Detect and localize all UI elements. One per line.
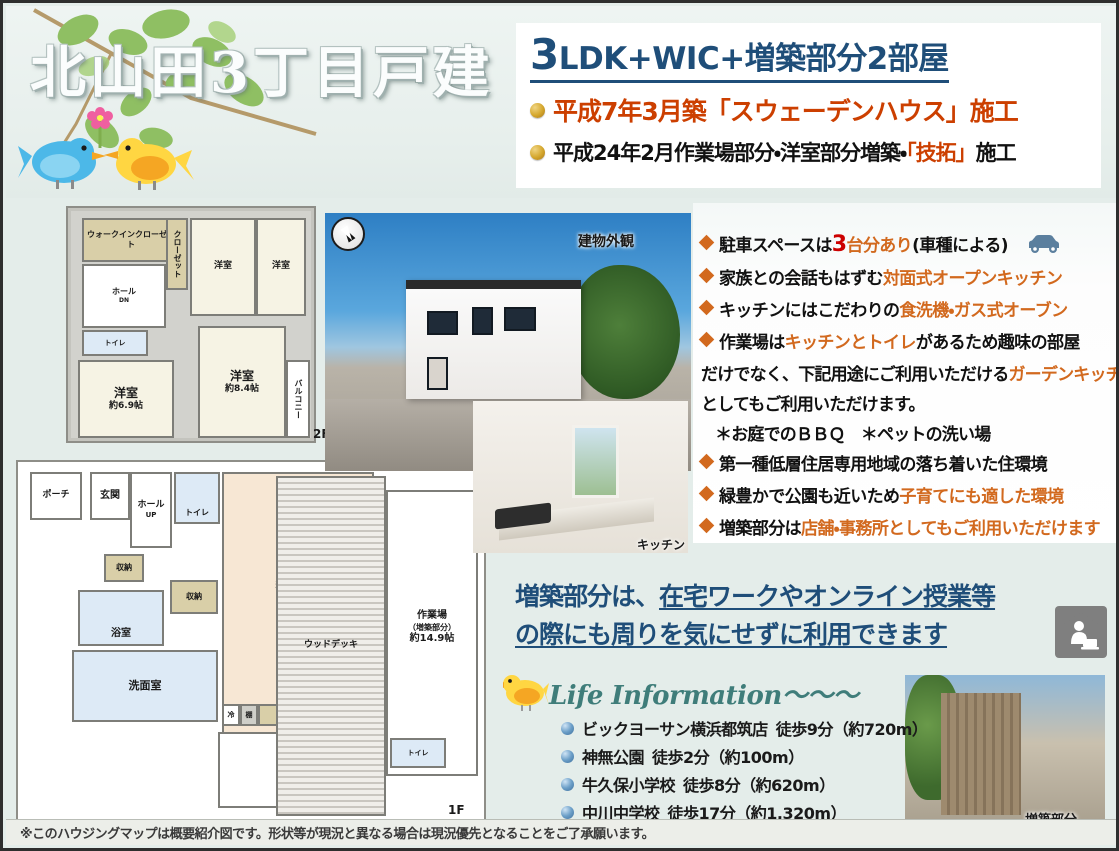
photo-kitchen xyxy=(473,401,688,553)
life-item-walk: 徒歩9分（約720m） xyxy=(776,716,928,740)
life-item-place: 牛久保小学校 xyxy=(582,772,675,796)
disclaimer-bar: ※このハウジングマップは概要紹介図です。形状等が現況と異なる場合は現況優先となる… xyxy=(6,819,1116,845)
room-wood-deck: ウッドデッキ xyxy=(276,476,386,816)
room-size: UP xyxy=(146,511,157,520)
room-label: 収納 xyxy=(186,592,202,602)
feature-row-kitchen-open: 家族との会話もはずむ対面式オープンキッチン xyxy=(701,264,1112,289)
room-storage-1: 収納 xyxy=(104,554,144,582)
room-western-8-4: 洋室 約8.4帖 xyxy=(198,326,286,438)
room-label: 冷 xyxy=(228,711,235,720)
room-workshop-14-9: 作業場 （増築部分） 約14.9帖 xyxy=(386,490,478,776)
gold-bullet-icon xyxy=(530,103,545,118)
photo-caption-exterior: 建物外観 xyxy=(578,231,634,251)
wfh-line-2: の際にも周りを気にせずに利用できます xyxy=(515,616,1035,654)
photo-addition xyxy=(905,675,1105,827)
compass-rose-icon xyxy=(331,217,365,251)
flyer-root: 北山田3丁目戸建 3LDK+WIC+増築部分2部屋 平成7年3月築「スウェーデン… xyxy=(0,0,1119,851)
bird-icon xyxy=(503,671,549,715)
room-toilet-workshop: トイレ xyxy=(390,738,446,768)
floor-tag-1f: 1F xyxy=(448,803,465,817)
feature-text-garden-kitchen: だけでなく、下記用途にご利用いただけるガーデンキッチン xyxy=(701,360,1112,385)
room-bath: 浴室 xyxy=(78,590,164,646)
room-label: バルコニー xyxy=(293,379,303,419)
room-size: 約6.9帖 xyxy=(109,401,143,412)
floorplan-1f: ポーチ 玄関 ホール UP トイレ 収納 収納 浴室 洗面室 LDK 約19.9… xyxy=(16,460,486,828)
room-balcony: バルコニー xyxy=(286,360,310,438)
room-sublabel: （増築部分） xyxy=(408,623,456,633)
room-fridge: 冷 xyxy=(222,704,240,726)
gold-bullet-icon xyxy=(530,145,545,160)
life-item-1: 神無公園 徒歩2分（約100m） xyxy=(561,744,923,768)
spec-box: 3LDK+WIC+増築部分2部屋 平成7年3月築「スウェーデンハウス」施工 平成… xyxy=(516,23,1101,188)
spec-line-2: 平成24年2月作業場部分・洋室部分増築・「技拓」施工 xyxy=(530,137,1089,167)
room-label: ウォークインクローゼット xyxy=(84,230,178,250)
life-information-block: Life Information～～～ ビックヨーサン横浜都筑店 徒歩9分（約7… xyxy=(503,675,923,828)
header-band: 北山田3丁目戸建 3LDK+WIC+増築部分2部屋 平成7年3月築「スウェーデン… xyxy=(6,6,1116,198)
feature-text: 緑豊かで公園も近いため子育てにも適した環境 xyxy=(719,482,1063,507)
room-label: 洗面室 xyxy=(129,679,162,693)
room-porch: ポーチ xyxy=(30,472,82,520)
feature-text: 家族との会話もはずむ対面式オープンキッチン xyxy=(719,264,1062,289)
room-size: 約8.4帖 xyxy=(225,384,259,395)
blue-bullet-icon xyxy=(561,750,574,763)
car-icon xyxy=(1025,233,1063,255)
feature-text: 増築部分は店舗・事務所としてもご利用いただけます xyxy=(719,514,1100,539)
room-label: ポーチ xyxy=(42,490,69,501)
room-label: ホール xyxy=(137,500,164,511)
room-label: トイレ xyxy=(408,749,429,758)
work-from-home-block: 増築部分は、在宅ワークやオンライン授業等 の際にも周りを気にせずに利用できます xyxy=(515,578,1035,653)
room-label: トイレ xyxy=(105,339,126,348)
spec-title-rest: LDK+WIC+増築部分2部屋 xyxy=(559,41,949,77)
spec-line-1: 平成7年3月築「スウェーデンハウス」施工 xyxy=(530,92,1089,128)
room-western-6-9: 洋室 約6.9帖 xyxy=(78,360,174,438)
diamond-bullet-icon xyxy=(699,268,715,284)
room-hall-1f: ホール UP xyxy=(130,472,172,548)
feature-row-childcare: 緑豊かで公園も近いため子育てにも適した環境 xyxy=(701,482,1112,507)
room-size: 約14.9帖 xyxy=(410,633,455,646)
flower-icon xyxy=(87,107,113,129)
feature-row-zoning: 第一種低層住居専用地域の落ち着いた住環境 xyxy=(701,450,1112,475)
room-label: 洋室 xyxy=(272,261,290,272)
exterior-tree xyxy=(570,265,680,399)
room-label: 作業場 xyxy=(417,610,447,623)
yellow-bird-icon xyxy=(104,138,194,190)
room-shelf: 棚 xyxy=(240,704,258,726)
photo-caption-kitchen: キッチン xyxy=(637,536,685,553)
feature-row-appliances: キッチンにはこだわりの食洗機・ガス式オーブン xyxy=(701,296,1112,321)
room-toilet-2f: トイレ xyxy=(82,330,148,356)
life-information-title: Life Information～～～ xyxy=(549,675,923,712)
feature-row-workshop: 作業場はキッチンとトイレがあるため趣味の部屋 xyxy=(701,328,1112,353)
room-size: DN xyxy=(119,297,129,305)
life-item-walk: 徒歩2分（約100m） xyxy=(652,744,804,768)
kitchen-window xyxy=(572,425,619,498)
feature-text-bbq-pet: ＊お庭でのＢＢＱ ＊ペットの洗い場 xyxy=(701,420,1112,445)
room-entrance: 玄関 xyxy=(90,472,130,520)
life-item-place: 神無公園 xyxy=(582,744,644,768)
room-closet: クローゼット xyxy=(166,218,188,290)
addition-wall xyxy=(941,693,1021,815)
diamond-bullet-icon xyxy=(699,518,715,534)
spec-line-1-text: 平成7年3月築「スウェーデンハウス」施工 xyxy=(553,92,1018,128)
life-item-2: 牛久保小学校 徒歩8分（約620m） xyxy=(561,772,923,796)
diamond-bullet-icon xyxy=(699,454,715,470)
wfh-line-1: 増築部分は、在宅ワークやオンライン授業等 xyxy=(515,578,1035,616)
life-item-0: ビックヨーサン横浜都筑店 徒歩9分（約720m） xyxy=(561,716,923,740)
spec-title-number: 3 xyxy=(530,30,559,79)
feature-text: キッチンにはこだわりの食洗機・ガス式オーブン xyxy=(719,296,1068,321)
feature-row-parking: 駐車スペースは3台分あり(車種による) xyxy=(701,231,1112,257)
room-label: ホール xyxy=(112,287,136,297)
room-toilet-1f: トイレ xyxy=(174,472,220,524)
feature-text: 第一種低層住居専用地域の落ち着いた住環境 xyxy=(719,450,1047,475)
floorplan-2f: ウォークインクローゼット クローゼット 洋室 洋室 ホール DN トイレ 洋室 … xyxy=(66,206,316,443)
diamond-bullet-icon xyxy=(699,235,715,251)
diamond-bullet-icon xyxy=(699,300,715,316)
feature-row-commercial: 増築部分は店舗・事務所としてもご利用いただけます xyxy=(701,514,1112,539)
blue-bullet-icon xyxy=(561,778,574,791)
room-label: クローゼット xyxy=(172,230,182,278)
features-panel: 駐車スペースは3台分あり(車種による) 家族との会話もはずむ対面式オープンキッチ… xyxy=(693,203,1118,543)
diamond-bullet-icon xyxy=(699,332,715,348)
room-label: 収納 xyxy=(116,563,132,573)
room-label: 玄関 xyxy=(100,490,120,503)
home-office-icon xyxy=(1055,606,1107,658)
spec-line-2-text: 平成24年2月作業場部分・洋室部分増築・「技拓」施工 xyxy=(553,137,1016,167)
room-label: 洋室 xyxy=(114,386,138,401)
room-washroom: 洗面室 xyxy=(72,650,218,722)
page-title: 北山田3丁目戸建 xyxy=(30,28,493,109)
life-item-place: ビックヨーサン横浜都筑店 xyxy=(582,716,768,740)
room-hall: ホール DN xyxy=(82,264,166,328)
room-western-top1: 洋室 xyxy=(190,218,256,316)
room-label: 棚 xyxy=(246,711,253,720)
blue-bullet-icon xyxy=(561,722,574,735)
room-label: 洋室 xyxy=(230,369,254,384)
room-storage-2: 収納 xyxy=(170,580,218,614)
feature-text: 駐車スペースは3台分あり(車種による) xyxy=(719,231,1008,257)
diamond-bullet-icon xyxy=(699,486,715,502)
blue-bullet-icon xyxy=(561,806,574,819)
life-item-walk: 徒歩8分（約620m） xyxy=(683,772,835,796)
blue-bird-icon xyxy=(18,138,106,189)
room-label: 洋室 xyxy=(214,261,232,272)
spec-title: 3LDK+WIC+増築部分2部屋 xyxy=(530,29,949,83)
room-label: トイレ xyxy=(185,508,209,518)
feature-text: 作業場はキッチンとトイレがあるため趣味の部屋 xyxy=(719,328,1080,353)
room-label: ウッドデッキ xyxy=(304,640,358,651)
room-label: 浴室 xyxy=(111,628,131,641)
exterior-house xyxy=(406,280,582,399)
feature-text-usable: としてもご利用いただけます。 xyxy=(701,390,1112,415)
room-western-top2: 洋室 xyxy=(256,218,306,316)
